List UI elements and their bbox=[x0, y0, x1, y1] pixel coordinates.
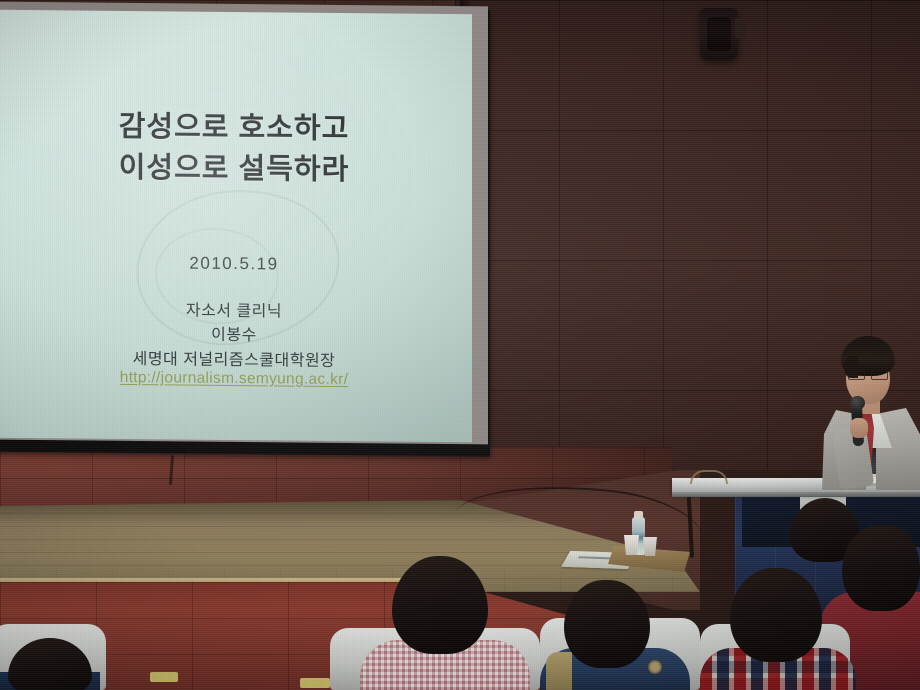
ceiling-speaker-icon bbox=[700, 8, 738, 60]
podium-top-edge bbox=[672, 492, 920, 497]
lecture-hall-photo: 감성으로 호소하고 이성으로 설득하라 2010.5.19 자소서 클리닉 이봉… bbox=[0, 0, 920, 690]
slide-title-block: 감성으로 호소하고 이성으로 설득하라 bbox=[0, 106, 472, 193]
slide-content: 감성으로 호소하고 이성으로 설득하라 2010.5.19 자소서 클리닉 이봉… bbox=[0, 10, 472, 443]
slide-title: 감성으로 호소하고 이성으로 설득하라 bbox=[0, 106, 472, 193]
podium-cable-loop bbox=[690, 470, 728, 484]
glasses-icon bbox=[848, 370, 888, 378]
slide-date: 2010.5.19 bbox=[0, 252, 472, 277]
audience-member-1-head bbox=[392, 556, 488, 654]
paper-cup-1 bbox=[624, 535, 639, 555]
slide-title-line-2: 이성으로 설득하라 bbox=[0, 147, 472, 193]
slide-url-link[interactable]: http://journalism.semyung.ac.kr/ bbox=[0, 368, 472, 391]
audience-member-2-head bbox=[564, 580, 650, 668]
audience-member-2-button bbox=[648, 660, 662, 674]
projection-screen: 감성으로 호소하고 이성으로 설득하라 2010.5.19 자소서 클리닉 이봉… bbox=[0, 10, 472, 443]
slide-title-line-1: 감성으로 호소하고 bbox=[0, 106, 472, 152]
bottle-cap bbox=[634, 511, 643, 519]
slide-subtitle-block: 자소서 클리닉 이봉수 세명대 저널리즘스쿨대학원장 bbox=[0, 298, 472, 376]
audience-member-3-head bbox=[730, 568, 822, 662]
presenter-hand bbox=[850, 418, 868, 438]
presenter bbox=[820, 330, 920, 490]
speaker-bracket bbox=[735, 18, 745, 38]
audience-member-4-head bbox=[842, 525, 920, 611]
seat-accent-right bbox=[300, 678, 330, 688]
seat-accent-left bbox=[150, 672, 178, 682]
presenter-jacket-right bbox=[876, 408, 920, 490]
audience-member-2-shoulder-stripe bbox=[546, 652, 572, 690]
microphone-head bbox=[850, 396, 865, 410]
paper-cup-2 bbox=[643, 537, 657, 556]
